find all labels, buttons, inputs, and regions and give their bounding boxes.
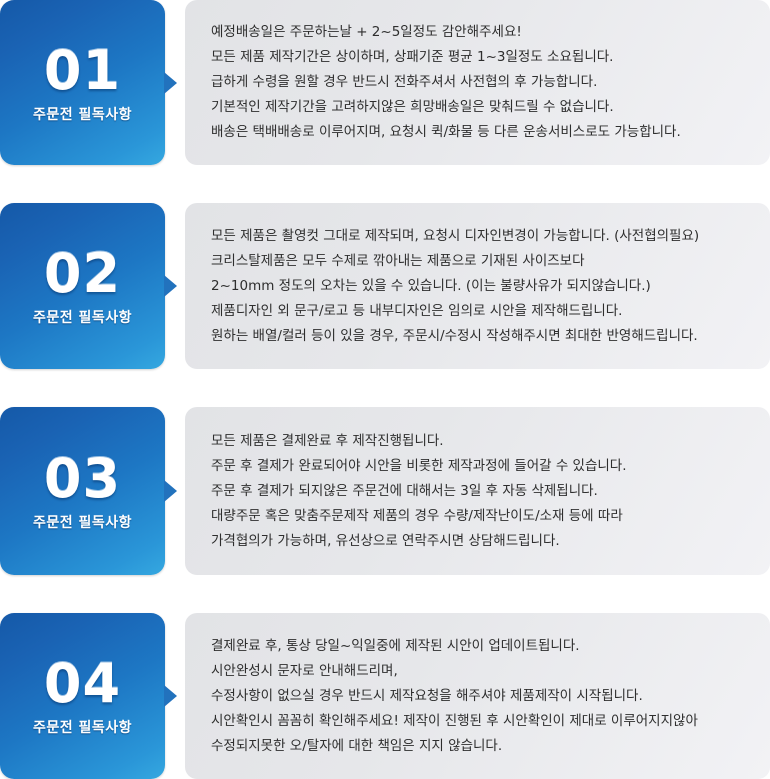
notice-line: 대량주문 혹은 맞춤주문제작 제품의 경우 수량/제작난이도/소재 등에 따라 [211, 504, 746, 529]
notice-panel-02: 모든 제품은 촬영컷 그대로 제작되며, 요청시 디자인변경이 가능합니다. (… [185, 203, 770, 369]
right-arrow-pointer-icon [164, 275, 177, 297]
notice-panel-04: 결제완료 후, 통상 당일~익일중에 제작된 시안이 업데이트됩니다. 시안완성… [185, 613, 770, 779]
notice-list: 01 주문전 필독사항 예정배송일은 주문하는날 + 2~5일정도 감안해주세요… [0, 0, 770, 779]
notice-line: 2~10mm 정도의 오차는 있을 수 있습니다. (이는 불량사유가 되지않습… [211, 274, 746, 299]
right-arrow-pointer-icon [164, 480, 177, 502]
notice-panel-03: 모든 제품은 결제완료 후 제작진행됩니다. 주문 후 결제가 완료되어야 시안… [185, 407, 770, 575]
notice-line: 시안완성시 문자로 안내해드리며, [211, 659, 746, 684]
badge-label: 주문전 필독사항 [33, 717, 132, 737]
notice-line: 결제완료 후, 통상 당일~익일중에 제작된 시안이 업데이트됩니다. [211, 634, 746, 659]
notice-badge-01: 01 주문전 필독사항 [0, 0, 165, 165]
notice-row: 02 주문전 필독사항 모든 제품은 촬영컷 그대로 제작되며, 요청시 디자인… [0, 203, 770, 369]
notice-line: 배송은 택배배송로 이루어지며, 요청시 퀵/화물 등 다른 운송서비스로도 가… [211, 120, 746, 145]
right-arrow-pointer-icon [164, 72, 177, 94]
badge-number: 01 [44, 44, 121, 98]
notice-line: 제품디자인 외 문구/로고 등 내부디자인은 임의로 시안을 제작해드립니다. [211, 299, 746, 324]
notice-line: 시안확인시 꼼꼼히 확인해주세요! 제작이 진행된 후 시안확인이 제대로 이루… [211, 709, 746, 734]
notice-line: 급하게 수령을 원할 경우 반드시 전화주셔서 사전협의 후 가능합니다. [211, 70, 746, 95]
notice-line: 모든 제품은 결제완료 후 제작진행됩니다. [211, 429, 746, 454]
notice-line: 주문 후 결제가 완료되어야 시안을 비롯한 제작과정에 들어갈 수 있습니다. [211, 454, 746, 479]
notice-line: 기본적인 제작기간을 고려하지않은 희망배송일은 맞춰드릴 수 없습니다. [211, 95, 746, 120]
notice-line: 가격협의가 가능하며, 유선상으로 연락주시면 상담해드립니다. [211, 529, 746, 554]
notice-line: 수정되지못한 오/탈자에 대한 책임은 지지 않습니다. [211, 734, 746, 759]
notice-line: 모든 제품은 촬영컷 그대로 제작되며, 요청시 디자인변경이 가능합니다. (… [211, 224, 746, 249]
badge-number: 03 [44, 452, 121, 506]
notice-badge-04: 04 주문전 필독사항 [0, 613, 165, 779]
notice-row: 03 주문전 필독사항 모든 제품은 결제완료 후 제작진행됩니다. 주문 후 … [0, 407, 770, 575]
notice-row: 01 주문전 필독사항 예정배송일은 주문하는날 + 2~5일정도 감안해주세요… [0, 0, 770, 165]
notice-line: 크리스탈제품은 모두 수제로 깎아내는 제품으로 기재된 사이즈보다 [211, 249, 746, 274]
notice-line: 원하는 배열/컬러 등이 있을 경우, 주문시/수정시 작성해주시면 최대한 반… [211, 324, 746, 349]
notice-panel-01: 예정배송일은 주문하는날 + 2~5일정도 감안해주세요! 모든 제품 제작기간… [185, 0, 770, 165]
notice-line: 모든 제품 제작기간은 상이하며, 상패기준 평균 1~3일정도 소요됩니다. [211, 45, 746, 70]
notice-badge-03: 03 주문전 필독사항 [0, 407, 165, 575]
notice-badge-02: 02 주문전 필독사항 [0, 203, 165, 369]
badge-number: 02 [44, 247, 121, 301]
badge-label: 주문전 필독사항 [33, 104, 132, 124]
badge-label: 주문전 필독사항 [33, 307, 132, 327]
notice-line: 예정배송일은 주문하는날 + 2~5일정도 감안해주세요! [211, 20, 746, 45]
notice-row: 04 주문전 필독사항 결제완료 후, 통상 당일~익일중에 제작된 시안이 업… [0, 613, 770, 779]
notice-line: 주문 후 결제가 되지않은 주문건에 대해서는 3일 후 자동 삭제됩니다. [211, 479, 746, 504]
right-arrow-pointer-icon [164, 685, 177, 707]
badge-label: 주문전 필독사항 [33, 512, 132, 532]
notice-line: 수정사항이 없으실 경우 반드시 제작요청을 해주셔야 제품제작이 시작됩니다. [211, 684, 746, 709]
badge-number: 04 [44, 657, 121, 711]
